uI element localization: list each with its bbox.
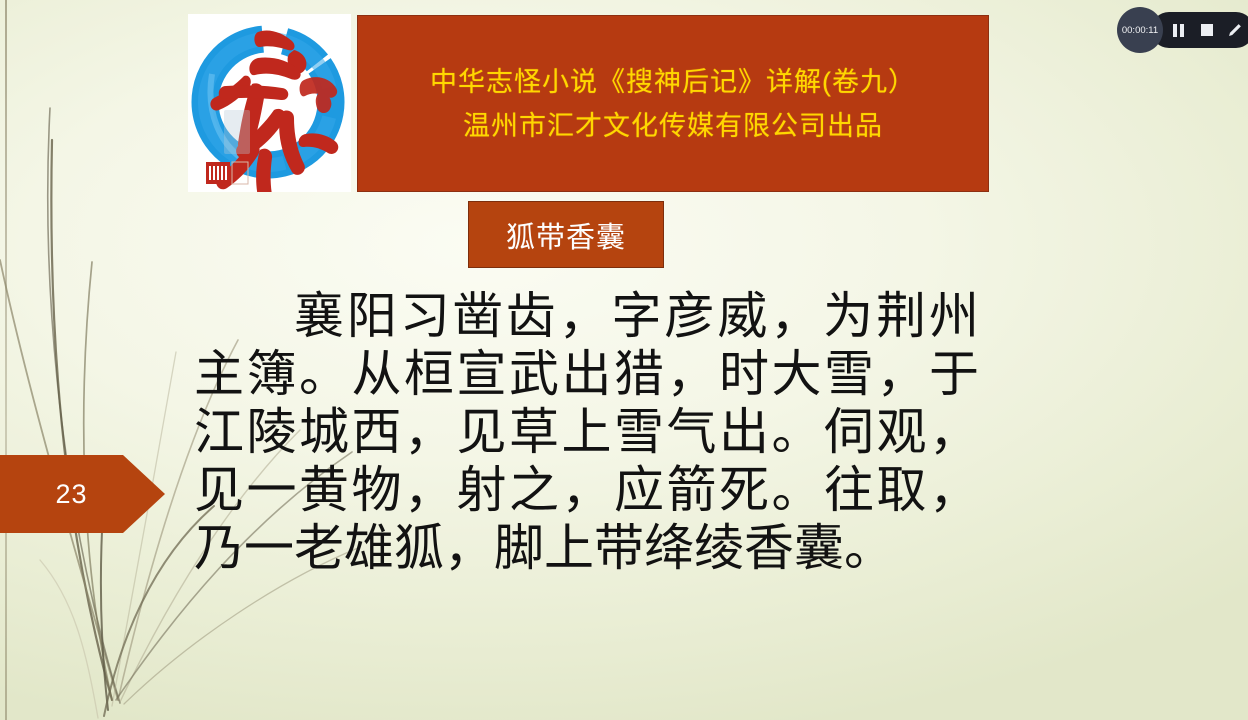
title-line-2: 温州市汇才文化传媒有限公司出品: [463, 104, 883, 148]
pencil-icon[interactable]: [1227, 23, 1242, 38]
pause-icon[interactable]: [1171, 23, 1186, 38]
screen-recorder-widget[interactable]: 00:00:11: [1117, 7, 1248, 53]
logo-artwork: [188, 14, 351, 192]
body-paragraph: 襄阳习凿齿，字彦威，为荆州主簿。从桓宣武出猎，时大雪，于江陵城西，见草上雪气出。…: [194, 287, 979, 577]
company-logo: [188, 14, 351, 192]
title-line-1: 中华志怪小说《搜神后记》详解(卷九）: [430, 60, 916, 104]
left-edge-rule: [5, 0, 7, 720]
section-subtitle-chip: 狐带香囊: [468, 201, 664, 268]
presentation-slide: 中华志怪小说《搜神后记》详解(卷九） 温州市汇才文化传媒有限公司出品 狐带香囊 …: [0, 0, 1248, 720]
page-number-banner: 23: [0, 455, 165, 533]
stop-icon[interactable]: [1199, 23, 1214, 38]
section-subtitle-label: 狐带香囊: [506, 214, 626, 256]
slide-title-bar: 中华志怪小说《搜神后记》详解(卷九） 温州市汇才文化传媒有限公司出品: [357, 15, 989, 192]
recorder-controls[interactable]: [1151, 12, 1248, 48]
recording-timer: 00:00:11: [1117, 7, 1163, 53]
page-number: 23: [55, 479, 109, 510]
